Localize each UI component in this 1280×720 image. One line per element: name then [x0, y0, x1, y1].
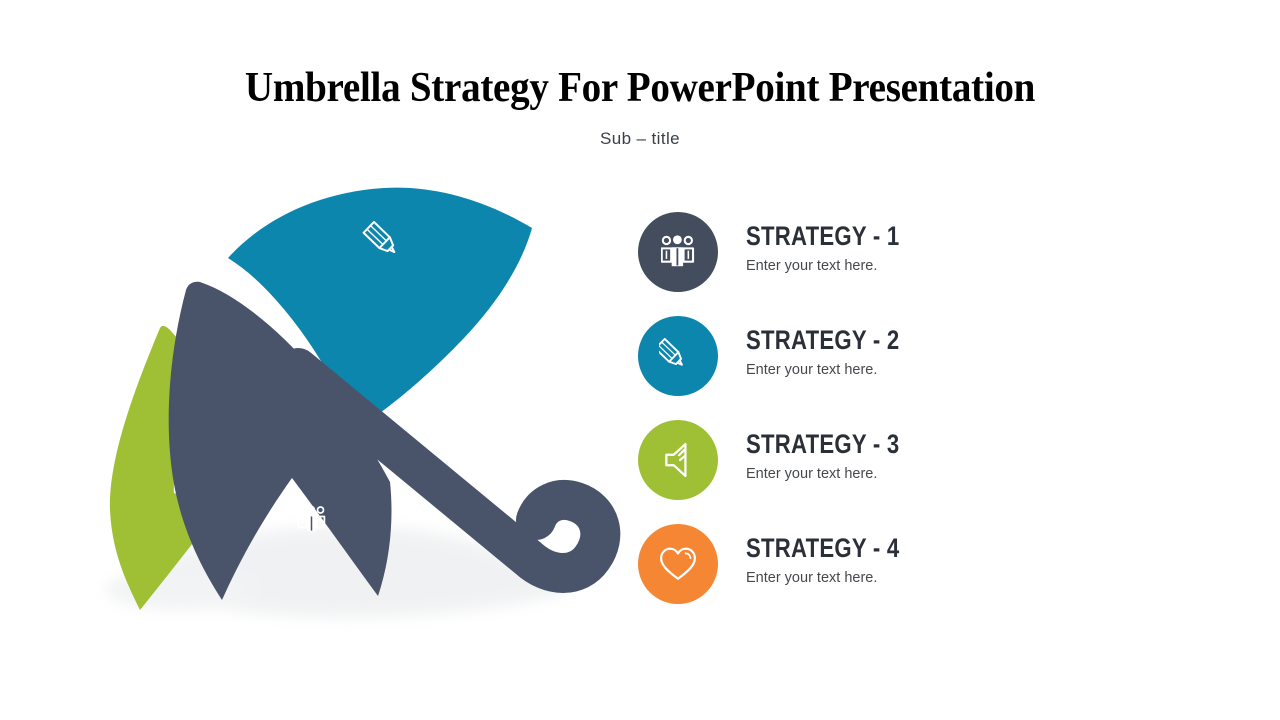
strategy-item-2[interactable]: STRATEGY - 2 Enter your text here. [638, 316, 1238, 420]
strategy-description-1: Enter your text here. [746, 257, 933, 276]
strategy-text-4: STRATEGY - 4 Enter your text here. [746, 534, 933, 588]
strategy-item-1[interactable]: STRATEGY - 1 Enter your text here. [638, 212, 1238, 316]
strategy-heading-2: STRATEGY - 2 [746, 326, 899, 355]
strategy-text-3: STRATEGY - 3 Enter your text here. [746, 430, 933, 484]
strategy-badge-3[interactable] [638, 420, 718, 500]
strategy-item-3[interactable]: STRATEGY - 3 Enter your text here. [638, 420, 1238, 524]
strategy-badge-1[interactable] [638, 212, 718, 292]
strategy-text-2: STRATEGY - 2 Enter your text here. [746, 326, 933, 380]
title-block: Umbrella Strategy For PowerPoint Present… [0, 62, 1280, 149]
page-title: Umbrella Strategy For PowerPoint Present… [45, 62, 1235, 114]
strategy-item-4[interactable]: STRATEGY - 4 Enter your text here. [638, 524, 1238, 628]
pencil-icon [659, 337, 697, 375]
umbrella-diagram [30, 160, 650, 660]
page-subtitle: Sub – title [0, 129, 1280, 149]
people-group-icon [661, 235, 695, 269]
heart-icon [659, 545, 697, 583]
strategy-badge-2[interactable] [638, 316, 718, 396]
strategy-description-2: Enter your text here. [746, 361, 933, 380]
strategy-description-3: Enter your text here. [746, 465, 933, 484]
strategy-text-1: STRATEGY - 1 Enter your text here. [746, 222, 933, 276]
strategy-description-4: Enter your text here. [746, 569, 933, 588]
megaphone-icon [660, 442, 696, 478]
strategy-heading-1: STRATEGY - 1 [746, 222, 899, 251]
strategy-list: STRATEGY - 1 Enter your text here. STRAT… [638, 212, 1238, 628]
strategy-heading-4: STRATEGY - 4 [746, 534, 899, 563]
strategy-badge-4[interactable] [638, 524, 718, 604]
strategy-heading-3: STRATEGY - 3 [746, 430, 899, 459]
